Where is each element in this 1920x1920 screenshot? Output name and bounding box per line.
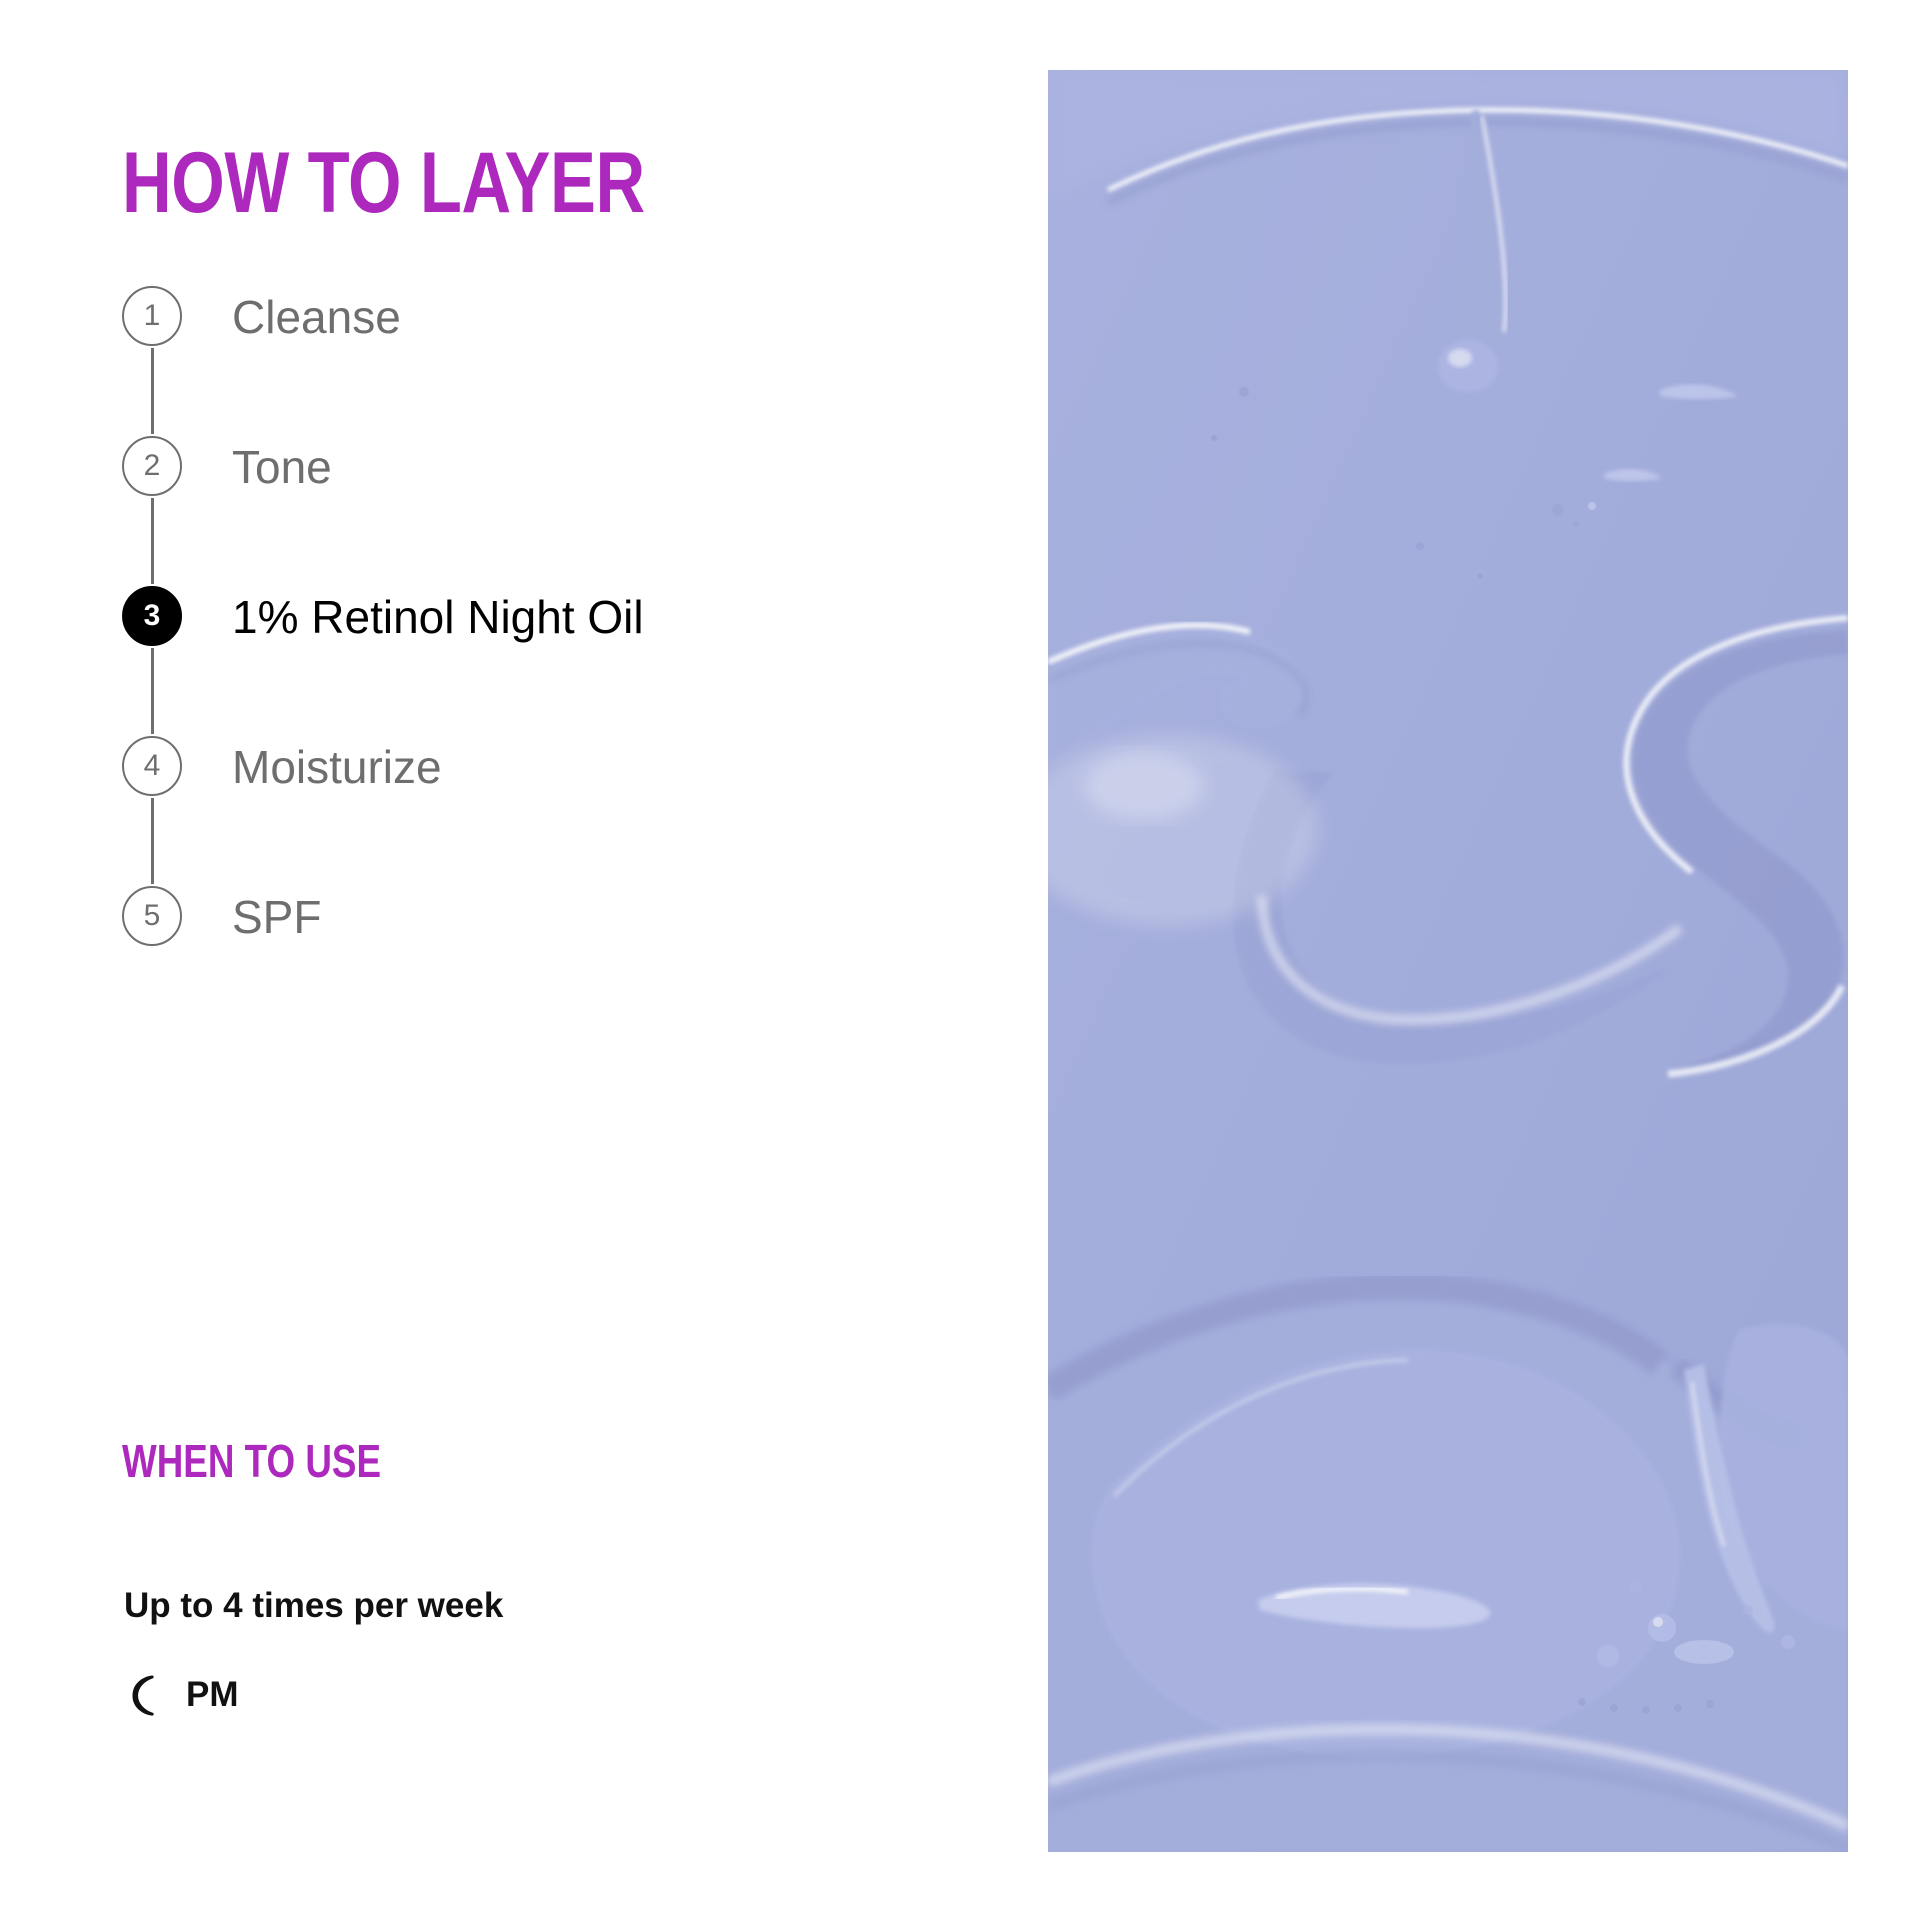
step-label: Moisturize: [232, 736, 442, 797]
step-label-active: 1% Retinol Night Oil: [232, 586, 644, 647]
infographic-page: HOW TO LAYER 1 Cleanse 2 Tone 3: [0, 0, 1920, 1920]
list-item[interactable]: 5 SPF: [122, 886, 942, 986]
routine-step-list: 1 Cleanse 2 Tone 3 1% Retinol Night Oil: [122, 286, 942, 986]
time-of-day-row: PM: [122, 1672, 239, 1718]
step-number-badge: 4: [122, 736, 182, 796]
list-item[interactable]: 2 Tone: [122, 436, 942, 586]
step-label: Cleanse: [232, 286, 401, 347]
list-item[interactable]: 4 Moisturize: [122, 736, 942, 886]
list-item[interactable]: 1 Cleanse: [122, 286, 942, 436]
step-connector-line: [151, 498, 154, 584]
step-number-badge: 2: [122, 436, 182, 496]
step-number-badge: 5: [122, 886, 182, 946]
step-marker: 4: [122, 736, 232, 796]
step-connector-line: [151, 648, 154, 734]
left-content-column: HOW TO LAYER 1 Cleanse 2 Tone 3: [0, 0, 1048, 1920]
page-title: HOW TO LAYER: [122, 140, 645, 226]
step-connector-line: [151, 348, 154, 434]
step-number-badge-active: 3: [122, 586, 182, 646]
time-of-day-label: PM: [186, 1672, 239, 1718]
step-marker: 5: [122, 886, 232, 946]
step-number-badge: 1: [122, 286, 182, 346]
list-item-active[interactable]: 3 1% Retinol Night Oil: [122, 586, 942, 736]
product-texture-image: [1048, 70, 1848, 1852]
gel-texture-swatch: [1048, 70, 1848, 1852]
crescent-moon-icon: [122, 1672, 168, 1718]
step-marker: 3: [122, 586, 232, 646]
step-label: Tone: [232, 436, 332, 497]
step-marker: 2: [122, 436, 232, 496]
step-connector-line: [151, 798, 154, 884]
usage-frequency-text: Up to 4 times per week: [124, 1586, 503, 1626]
step-marker: 1: [122, 286, 232, 346]
when-to-use-heading: WHEN TO USE: [122, 1438, 381, 1484]
step-label: SPF: [232, 886, 321, 947]
